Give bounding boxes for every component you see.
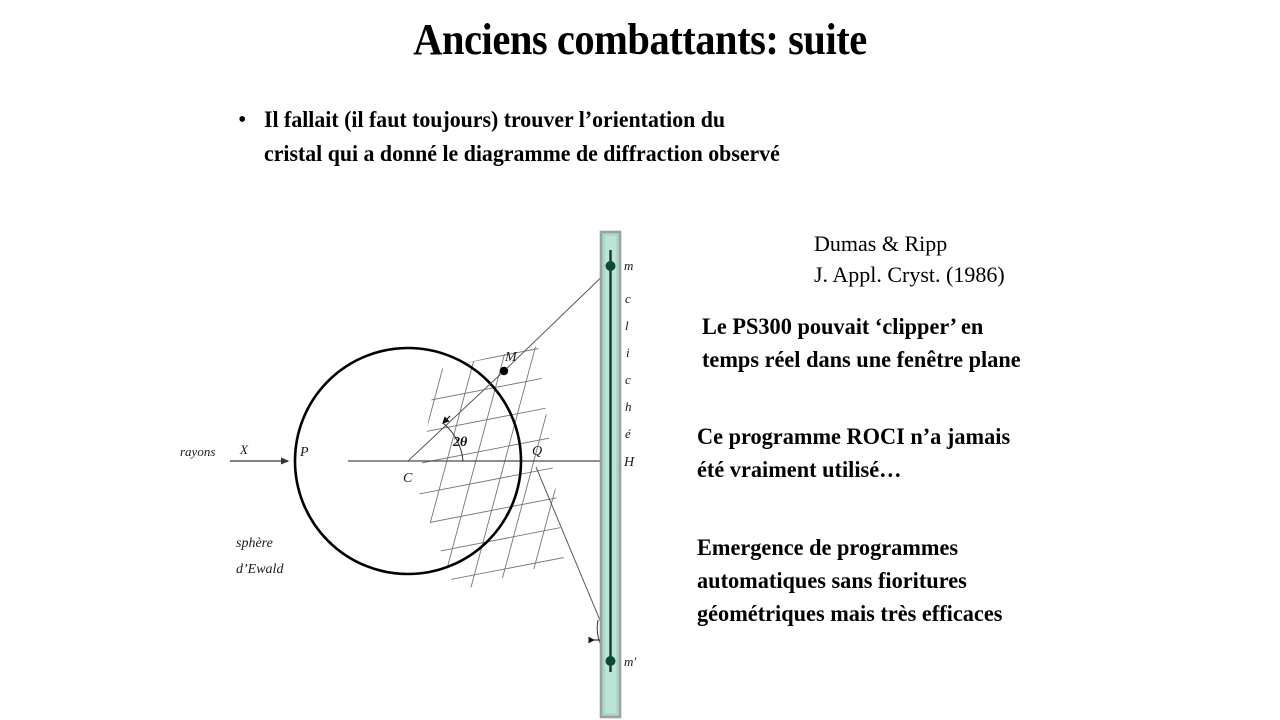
- spot-m-dot: [606, 261, 616, 271]
- note-emergence-line-1: Emergence de programmes: [697, 531, 1002, 564]
- film-letter-2: l: [625, 318, 629, 333]
- note-roci-line-1: Ce programme ROCI n’a jamais: [697, 420, 1010, 453]
- label-q: Q: [532, 444, 542, 459]
- label-p: P: [299, 445, 309, 460]
- bullet-marker-icon: •: [238, 103, 264, 137]
- caption-sphere-line-2: d’Ewald: [236, 562, 284, 577]
- film-letter-4: c: [625, 372, 631, 387]
- bullet-line-2: cristal qui a donné le diagramme de diff…: [264, 137, 961, 171]
- page-title: Anciens combattants: suite: [51, 14, 1229, 66]
- film-label-cliche: c l i c h é: [625, 291, 632, 441]
- note-clipper-line-1: Le PS300 pouvait ‘clipper’ en: [702, 310, 1021, 343]
- note-roci: Ce programme ROCI n’a jamais été vraimen…: [697, 420, 1010, 486]
- node-m-dot: [500, 367, 508, 375]
- bullet-list: • Il fallait (il faut toujours) trouver …: [238, 103, 998, 171]
- label-m: M: [504, 350, 518, 365]
- label-x: X: [239, 442, 249, 457]
- ewald-sphere-figure: rayons X 2θ θ P C Q M sph: [160, 220, 680, 720]
- spot-m-prime-dot: [606, 656, 616, 666]
- slide-canvas: Anciens combattants: suite • Il fallait …: [0, 0, 1280, 720]
- label-spot-m-prime: m′: [624, 654, 636, 669]
- reference-line-2: J. Appl. Cryst. (1986): [814, 259, 1005, 290]
- ewald-diagram-svg: rayons X 2θ θ P C Q M sph: [160, 220, 680, 720]
- label-spot-m: m: [624, 258, 633, 273]
- note-emergence-line-2: automatiques sans fioritures: [697, 564, 1002, 597]
- label-rayons: rayons: [180, 444, 215, 459]
- film-letter-1: c: [625, 291, 631, 306]
- film-strip: [601, 232, 620, 717]
- note-emergence-line-3: géométriques mais très efficaces: [697, 597, 1002, 630]
- note-emergence: Emergence de programmes automatiques san…: [697, 531, 1002, 630]
- note-clipper: Le PS300 pouvait ‘clipper’ en temps réel…: [702, 310, 1021, 376]
- caption-sphere-line-1: sphère: [236, 536, 273, 551]
- label-h: H: [623, 455, 635, 470]
- note-clipper-line-2: temps réel dans une fenêtre plane: [702, 343, 1021, 376]
- film-letter-5: h: [625, 399, 632, 414]
- diffracted-ray-to-m: [504, 266, 613, 371]
- bullet-line-1: Il fallait (il faut toujours) trouver l’…: [264, 103, 961, 137]
- film-letter-6: é: [625, 426, 632, 441]
- label-2theta: 2θ: [452, 435, 468, 450]
- reference-line-1: Dumas & Ripp: [814, 228, 1005, 259]
- note-roci-line-2: été vraiment utilisé…: [697, 453, 1010, 486]
- reference-citation: Dumas & Ripp J. Appl. Cryst. (1986): [814, 228, 1005, 290]
- label-c: C: [403, 471, 413, 486]
- bullet-item-text: Il fallait (il faut toujours) trouver l’…: [264, 103, 961, 171]
- film-letter-3: i: [626, 345, 630, 360]
